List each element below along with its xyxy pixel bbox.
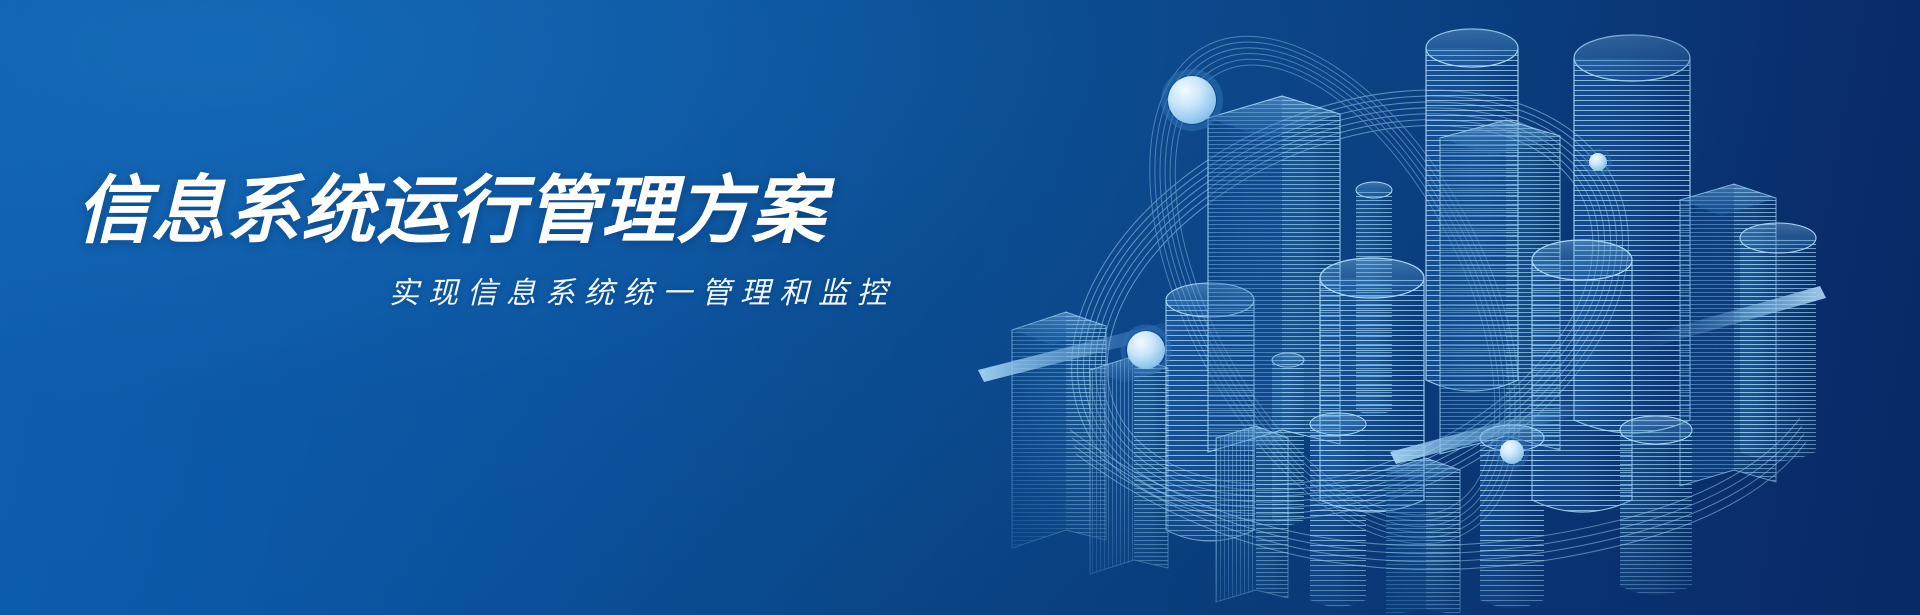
- orbit-ring-foreground: [1070, 418, 1806, 570]
- glow-sphere: [1497, 437, 1527, 467]
- building-tower: [1680, 184, 1776, 486]
- orbit-rings: [1004, 0, 1697, 604]
- city-illustration: [920, 0, 1920, 615]
- building-tower: [1320, 258, 1424, 512]
- glow-sphere: [1586, 150, 1610, 174]
- building-tower: [1532, 240, 1632, 512]
- building-tower: [1740, 223, 1816, 461]
- glow-spheres: [1123, 72, 1610, 467]
- building-tower: [1310, 413, 1366, 607]
- glow-sphere: [1123, 327, 1169, 373]
- building-tower: [1620, 416, 1692, 595]
- hero-banner: 信息系统运行管理方案 实现信息系统统一管理和监控: [0, 0, 1920, 615]
- building-tower: [1216, 426, 1288, 602]
- building-tower: [1208, 96, 1340, 452]
- building-tower: [1480, 425, 1544, 608]
- building-tower: [1090, 356, 1168, 574]
- building-tower: [1012, 312, 1106, 548]
- banner-title: 信息系统运行管理方案: [0, 172, 980, 250]
- city-illustration-svg: [920, 0, 1920, 615]
- building-tower: [1426, 29, 1518, 391]
- wireframe-buildings: [1012, 29, 1816, 615]
- glow-sphere: [1164, 72, 1220, 128]
- light-streak: [1636, 286, 1826, 350]
- light-streak: [978, 318, 1188, 382]
- building-tower: [1272, 353, 1304, 525]
- light-streaks: [978, 286, 1826, 464]
- building-tower: [1356, 182, 1392, 416]
- light-streak: [1390, 400, 1588, 464]
- building-tower: [1574, 35, 1690, 433]
- building-tower: [1386, 458, 1460, 615]
- building-tower: [1166, 283, 1254, 541]
- banner-subtitle: 实现信息系统统一管理和监控: [0, 268, 980, 312]
- banner-text-block: 信息系统运行管理方案 实现信息系统统一管理和监控: [0, 172, 980, 312]
- building-tower: [1440, 120, 1560, 454]
